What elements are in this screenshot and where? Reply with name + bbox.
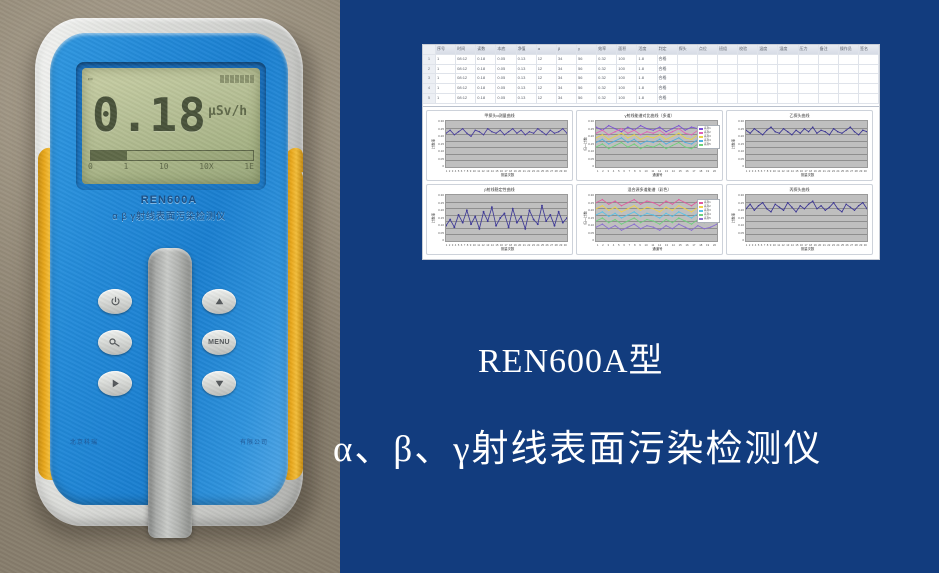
data-point — [684, 214, 685, 215]
data-point — [646, 200, 647, 201]
data-point — [621, 131, 622, 132]
x-tick: 1 — [746, 243, 748, 247]
data-point — [602, 139, 603, 140]
table-cell: 100 — [617, 74, 637, 83]
data-point — [791, 207, 792, 208]
data-point — [850, 126, 851, 127]
y-tick: 0 — [742, 239, 744, 242]
chart-4: β射线稳定性曲线0.300.250.200.150.100.050计数率1234… — [426, 184, 573, 255]
y-tick: 0.05 — [588, 232, 594, 235]
table-cell: 0.32 — [597, 84, 617, 93]
y-axis-label: 归一计数 — [582, 211, 587, 225]
table-cell — [698, 55, 718, 64]
x-tick: 22 — [827, 243, 830, 247]
data-point — [825, 131, 826, 132]
x-tick: 1 — [746, 169, 748, 173]
x-tick: 13 — [786, 169, 789, 173]
data-point — [833, 202, 834, 203]
down-button[interactable] — [202, 371, 236, 396]
data-point — [653, 129, 654, 130]
y-tick: 0.30 — [738, 194, 744, 197]
x-tick: 29 — [859, 243, 862, 247]
x-tick: 27 — [850, 243, 853, 247]
table-cell — [678, 84, 698, 93]
x-tick: 13 — [486, 169, 489, 173]
data-point — [800, 133, 801, 134]
data-point — [602, 205, 603, 206]
data-point — [640, 125, 641, 126]
data-point — [665, 225, 666, 226]
data-point — [653, 146, 654, 147]
plot-area: 0.300.250.200.150.100.050计数率 — [745, 194, 868, 242]
data-point — [816, 133, 817, 134]
x-tick: 4 — [613, 169, 615, 173]
x-tick: 7 — [764, 169, 766, 173]
lcd-reading-value: 0.18 — [92, 92, 207, 138]
data-point — [608, 216, 609, 217]
x-tick: 22 — [527, 243, 530, 247]
data-point — [634, 217, 635, 218]
power-button[interactable] — [98, 289, 132, 314]
table-cell: 班组 — [718, 45, 738, 54]
table-cell — [859, 65, 879, 74]
x-tick: 20 — [713, 243, 716, 247]
series-line — [446, 206, 567, 229]
data-point — [820, 205, 821, 206]
x-tick: 10 — [773, 169, 776, 173]
data-point — [697, 225, 698, 226]
x-tick: 4 — [755, 169, 757, 173]
table-cell — [799, 94, 819, 103]
lcd-display: ▭ 0.18 μSv/h 011010X1E — [82, 68, 260, 184]
x-tick: 28 — [555, 169, 558, 173]
x-tick: 17 — [692, 169, 695, 173]
x-axis-label: 通道号 — [595, 173, 720, 178]
lcd-scale-tick: 10 — [159, 162, 169, 171]
data-point — [678, 199, 679, 200]
x-tick: 3 — [607, 169, 609, 173]
x-tick: 5 — [758, 243, 760, 247]
lcd-scale-tick: 1 — [123, 162, 128, 171]
data-point — [691, 223, 692, 224]
data-point — [627, 137, 628, 138]
y-tick: 0.05 — [588, 158, 594, 161]
y-tick: 0.25 — [738, 202, 744, 205]
data-point — [608, 148, 609, 149]
x-tick: 20 — [818, 169, 821, 173]
x-tick: 21 — [523, 169, 526, 173]
legend-entry: 系列5 — [699, 217, 718, 221]
table-cell: 0.13 — [517, 84, 537, 93]
x-tick: 4 — [455, 243, 457, 247]
table-cell — [819, 84, 839, 93]
lcd-scale-tick: 10X — [199, 162, 213, 171]
data-point — [845, 129, 846, 130]
table-cell: 0.13 — [517, 74, 537, 83]
table-cell — [758, 65, 778, 74]
table-cell — [678, 74, 698, 83]
row-number-cell: 1 — [423, 55, 436, 64]
data-point — [646, 225, 647, 226]
x-tick: 14 — [791, 169, 794, 173]
lcd-status-bar: ▭ — [88, 72, 254, 86]
x-tick: 3 — [607, 243, 609, 247]
x-tick: 1 — [597, 169, 599, 173]
x-tick: 5 — [758, 169, 760, 173]
x-tick: 15 — [795, 169, 798, 173]
table-cell: 100 — [617, 65, 637, 74]
data-point — [684, 129, 685, 130]
data-point — [533, 133, 534, 134]
data-point — [659, 126, 660, 127]
x-tick: 27 — [550, 243, 553, 247]
x-tick: 11 — [777, 169, 780, 173]
data-point — [758, 205, 759, 206]
data-point — [608, 143, 609, 144]
data-point — [621, 142, 622, 143]
battery-icon: ▭ — [88, 75, 93, 83]
data-point — [820, 129, 821, 130]
x-tick: 15 — [495, 243, 498, 247]
faceplate-model-text: REN600A — [50, 194, 288, 206]
table-cell: 12 — [537, 55, 557, 64]
data-point — [862, 129, 863, 130]
x-tick: 9 — [470, 243, 472, 247]
y-axis-label: 归一计数 — [582, 137, 587, 151]
data-point — [795, 211, 796, 212]
data-point — [684, 133, 685, 134]
data-point — [672, 203, 673, 204]
data-point — [646, 219, 647, 220]
data-point — [495, 225, 497, 227]
x-tick: 29 — [859, 169, 862, 173]
data-point — [804, 128, 805, 129]
data-point — [749, 133, 750, 134]
data-point — [627, 142, 628, 143]
plot-area: 0.300.250.200.150.100.050计数率 — [445, 120, 568, 168]
x-tick: 8 — [767, 243, 769, 247]
data-point — [749, 203, 750, 204]
table-cell: 判定 — [658, 45, 678, 54]
table-cell: 0.05 — [496, 84, 516, 93]
x-tick: 15 — [679, 243, 682, 247]
data-point — [808, 203, 809, 204]
x-tick: 24 — [536, 243, 539, 247]
data-point — [627, 208, 628, 209]
search-button[interactable] — [98, 330, 132, 355]
table-cell: 0.18 — [476, 74, 496, 83]
x-tick: 20 — [818, 243, 821, 247]
table-cell: 0.13 — [517, 94, 537, 103]
table-row: 4108:120.180.050.131234560.321001.8合格 — [423, 84, 879, 94]
table-cell: 温度 — [758, 45, 778, 54]
x-tick: 18 — [699, 169, 702, 173]
x-tick: 22 — [527, 169, 530, 173]
x-axis-label: 测量次数 — [445, 173, 570, 178]
table-row: 3108:120.180.050.131234560.321001.8合格 — [423, 74, 879, 84]
x-tick: 7 — [464, 169, 466, 173]
data-point — [766, 129, 767, 130]
lcd-bargraph-fill — [91, 151, 127, 160]
play-button[interactable] — [98, 371, 132, 396]
table-cell: 探头 — [678, 45, 698, 54]
data-point — [678, 223, 679, 224]
table-cell: 1.8 — [637, 84, 657, 93]
up-button[interactable] — [202, 289, 236, 314]
data-point — [458, 131, 459, 132]
data-point — [614, 225, 615, 226]
x-tick: 13 — [665, 243, 668, 247]
table-cell: 时间 — [456, 45, 476, 54]
data-point — [808, 131, 809, 132]
data-point — [672, 136, 673, 137]
data-point — [766, 208, 767, 209]
chart-title: β射线稳定性曲线 — [429, 187, 570, 193]
chart-series-layer — [446, 195, 567, 241]
x-tick: 2 — [749, 169, 751, 173]
table-cell: 0.18 — [476, 94, 496, 103]
table-cell — [678, 94, 698, 103]
table-cell — [799, 74, 819, 83]
data-point — [665, 200, 666, 201]
data-point — [608, 210, 609, 211]
data-point — [621, 223, 622, 224]
data-point — [653, 208, 654, 209]
table-cell: 1.8 — [637, 74, 657, 83]
y-tick: 0.20 — [438, 135, 444, 138]
table-cell: 08:12 — [456, 65, 476, 74]
table-cell: 0.13 — [517, 55, 537, 64]
x-tick: 26 — [846, 243, 849, 247]
table-cell: 12 — [537, 84, 557, 93]
data-point — [512, 128, 513, 129]
x-tick: 7 — [629, 243, 631, 247]
table-cell — [698, 65, 718, 74]
table-cell — [778, 84, 798, 93]
data-point — [779, 133, 780, 134]
data-point — [779, 207, 780, 208]
data-point — [614, 207, 615, 208]
lcd-bargraph — [90, 150, 254, 161]
x-tick: 14 — [491, 243, 494, 247]
x-tick: 12 — [482, 169, 485, 173]
data-point — [634, 199, 635, 200]
data-point — [545, 220, 547, 222]
table-cell: 0.05 — [496, 74, 516, 83]
x-tick: 6 — [461, 169, 463, 173]
data-point — [558, 211, 560, 213]
x-tick: 27 — [850, 169, 853, 173]
data-point — [672, 128, 673, 129]
y-tick: 0.25 — [588, 202, 594, 205]
data-point — [691, 230, 692, 231]
series-line — [446, 129, 567, 137]
y-tick: 0.20 — [738, 135, 744, 138]
x-tick: 10 — [645, 243, 648, 247]
data-point — [529, 131, 530, 132]
data-point — [653, 133, 654, 134]
table-cell: 合格 — [658, 94, 678, 103]
data-point — [520, 129, 521, 130]
data-point — [845, 203, 846, 204]
data-point — [653, 137, 654, 138]
data-point — [659, 139, 660, 140]
table-cell: 读数 — [476, 45, 496, 54]
table-cell: 34 — [557, 84, 577, 93]
data-point — [541, 205, 543, 207]
x-tick: 1 — [446, 169, 448, 173]
table-cell — [839, 65, 859, 74]
x-tick: 18 — [699, 243, 702, 247]
data-point — [672, 228, 673, 229]
x-tick: 8 — [467, 243, 469, 247]
y-tick: 0.10 — [588, 150, 594, 153]
table-cell: 0.32 — [597, 65, 617, 74]
data-point — [466, 133, 467, 134]
data-point — [512, 208, 514, 210]
table-cell: 本底 — [496, 45, 516, 54]
data-point — [614, 136, 615, 137]
table-cell — [678, 55, 698, 64]
data-point — [524, 228, 526, 230]
data-point — [640, 203, 641, 204]
data-point — [614, 145, 615, 146]
x-tick: 2 — [602, 243, 604, 247]
chart-3: 乙探头曲线0.300.250.200.150.100.050计数率1234567… — [726, 110, 873, 181]
x-tick: 13 — [486, 243, 489, 247]
data-point — [640, 210, 641, 211]
y-tick: 0.30 — [438, 120, 444, 123]
x-tick: 23 — [532, 169, 535, 173]
data-point — [602, 199, 603, 200]
data-point — [646, 207, 647, 208]
data-point — [602, 211, 603, 212]
data-point — [770, 126, 771, 127]
data-point — [653, 226, 654, 227]
data-point — [672, 140, 673, 141]
data-point — [614, 219, 615, 220]
x-tick: 14 — [791, 243, 794, 247]
table-cell — [799, 65, 819, 74]
y-tick: 0.25 — [738, 128, 744, 131]
y-axis-label: 计数率 — [731, 139, 736, 149]
data-point — [775, 203, 776, 204]
data-point — [520, 216, 522, 218]
data-point — [541, 131, 542, 132]
x-tick: 5 — [458, 169, 460, 173]
data-point — [614, 213, 615, 214]
x-tick: 14 — [672, 169, 675, 173]
table-cell: 签名 — [859, 45, 879, 54]
lcd-unit-label: μSv/h — [208, 104, 247, 119]
data-point — [678, 133, 679, 134]
table-cell: 效率 — [597, 45, 617, 54]
table-cell — [738, 94, 758, 103]
data-point — [640, 148, 641, 149]
data-point — [758, 131, 759, 132]
table-cell — [799, 55, 819, 64]
table-cell: 34 — [557, 65, 577, 74]
x-tick: 20 — [518, 243, 521, 247]
data-point — [562, 222, 564, 224]
data-point — [634, 143, 635, 144]
table-cell: 1.8 — [637, 94, 657, 103]
table-cell: γ — [577, 45, 597, 54]
data-point — [704, 228, 705, 229]
caption-model: REN600A型 — [478, 333, 664, 382]
data-point — [475, 129, 476, 130]
table-cell: 34 — [557, 94, 577, 103]
x-tick: 30 — [564, 243, 567, 247]
x-tick: 16 — [685, 243, 688, 247]
y-tick: 0.15 — [738, 143, 744, 146]
x-tick: 29 — [559, 169, 562, 173]
chart-1: 甲探头α测量曲线0.300.250.200.150.100.050计数率1234… — [426, 110, 573, 181]
data-point — [691, 217, 692, 218]
table-cell — [839, 74, 859, 83]
data-point — [470, 223, 472, 225]
x-tick: 30 — [564, 169, 567, 173]
data-point — [500, 129, 501, 130]
table-cell — [819, 65, 839, 74]
chart-series-layer — [746, 121, 867, 167]
y-tick: 0.25 — [588, 128, 594, 131]
y-tick: 0.15 — [588, 143, 594, 146]
table-cell: 1 — [436, 65, 456, 74]
y-tick: 0.10 — [588, 224, 594, 227]
seg-bars-icon — [220, 75, 254, 83]
table-row: 5108:120.180.050.131234560.321001.8合格 — [423, 94, 879, 104]
menu-button[interactable]: MENU — [202, 330, 236, 355]
y-tick: 0.20 — [588, 209, 594, 212]
data-point — [825, 210, 826, 211]
data-point — [449, 129, 450, 130]
table-cell — [839, 84, 859, 93]
table-cell: 序号 — [436, 45, 456, 54]
table-cell: 面积 — [617, 45, 637, 54]
table-cell: 34 — [557, 55, 577, 64]
data-point — [672, 216, 673, 217]
data-point — [665, 139, 666, 140]
data-point — [684, 208, 685, 209]
data-point — [770, 211, 771, 212]
x-tick: 7 — [629, 169, 631, 173]
table-cell: 1.8 — [637, 65, 657, 74]
data-point — [791, 134, 792, 135]
data-point — [804, 208, 805, 209]
table-cell: 活度 — [637, 45, 657, 54]
table-cell — [778, 94, 798, 103]
legend-swatch — [699, 132, 703, 134]
x-tick: 12 — [782, 169, 785, 173]
data-point — [646, 145, 647, 146]
x-tick: 30 — [864, 169, 867, 173]
table-cell — [698, 84, 718, 93]
x-tick: 9 — [770, 169, 772, 173]
table-cell: 1 — [436, 94, 456, 103]
data-point — [608, 228, 609, 229]
y-tick: 0.05 — [438, 158, 444, 161]
y-tick: 0.10 — [438, 150, 444, 153]
table-cell — [758, 84, 778, 93]
data-point — [691, 148, 692, 149]
x-tick: 28 — [855, 169, 858, 173]
table-cell — [859, 74, 879, 83]
x-tick: 19 — [706, 243, 709, 247]
legend-entry: 系列5 — [699, 143, 718, 147]
x-tick: 25 — [841, 169, 844, 173]
data-point — [627, 220, 628, 221]
